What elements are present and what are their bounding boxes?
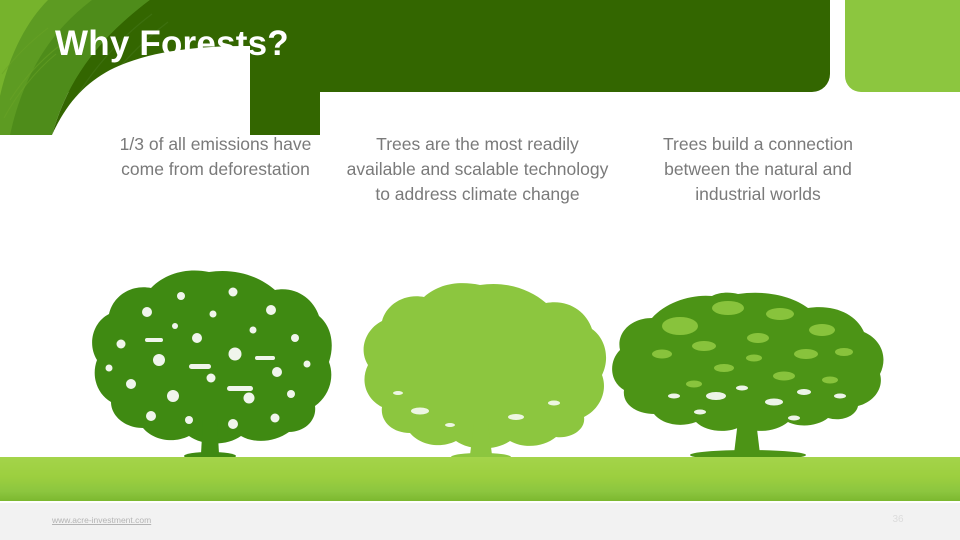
page-number: 36 xyxy=(886,514,910,525)
tree-illustration-light xyxy=(358,283,608,460)
ground-band xyxy=(0,457,960,501)
tree-illustration-broad xyxy=(608,292,888,460)
column-connection: Trees build a connection between the nat… xyxy=(638,132,878,207)
tree-illustration-dark xyxy=(85,268,335,460)
page-title: Why Forests? xyxy=(55,24,289,64)
column-text-2: Trees are the most readily available and… xyxy=(345,132,610,207)
column-technology: Trees are the most readily available and… xyxy=(345,132,610,207)
column-text-1: 1/3 of all emissions have come from defo… xyxy=(108,132,323,182)
column-text-3: Trees build a connection between the nat… xyxy=(638,132,878,207)
content-columns: 1/3 of all emissions have come from defo… xyxy=(0,132,960,207)
footer-url-link[interactable]: www.acre-investment.com xyxy=(52,515,151,525)
column-emissions: 1/3 of all emissions have come from defo… xyxy=(108,132,323,207)
corner-accent-block xyxy=(845,0,960,92)
presentation-slide: Why Forests? 1/3 of all emissions have c… xyxy=(0,0,960,540)
